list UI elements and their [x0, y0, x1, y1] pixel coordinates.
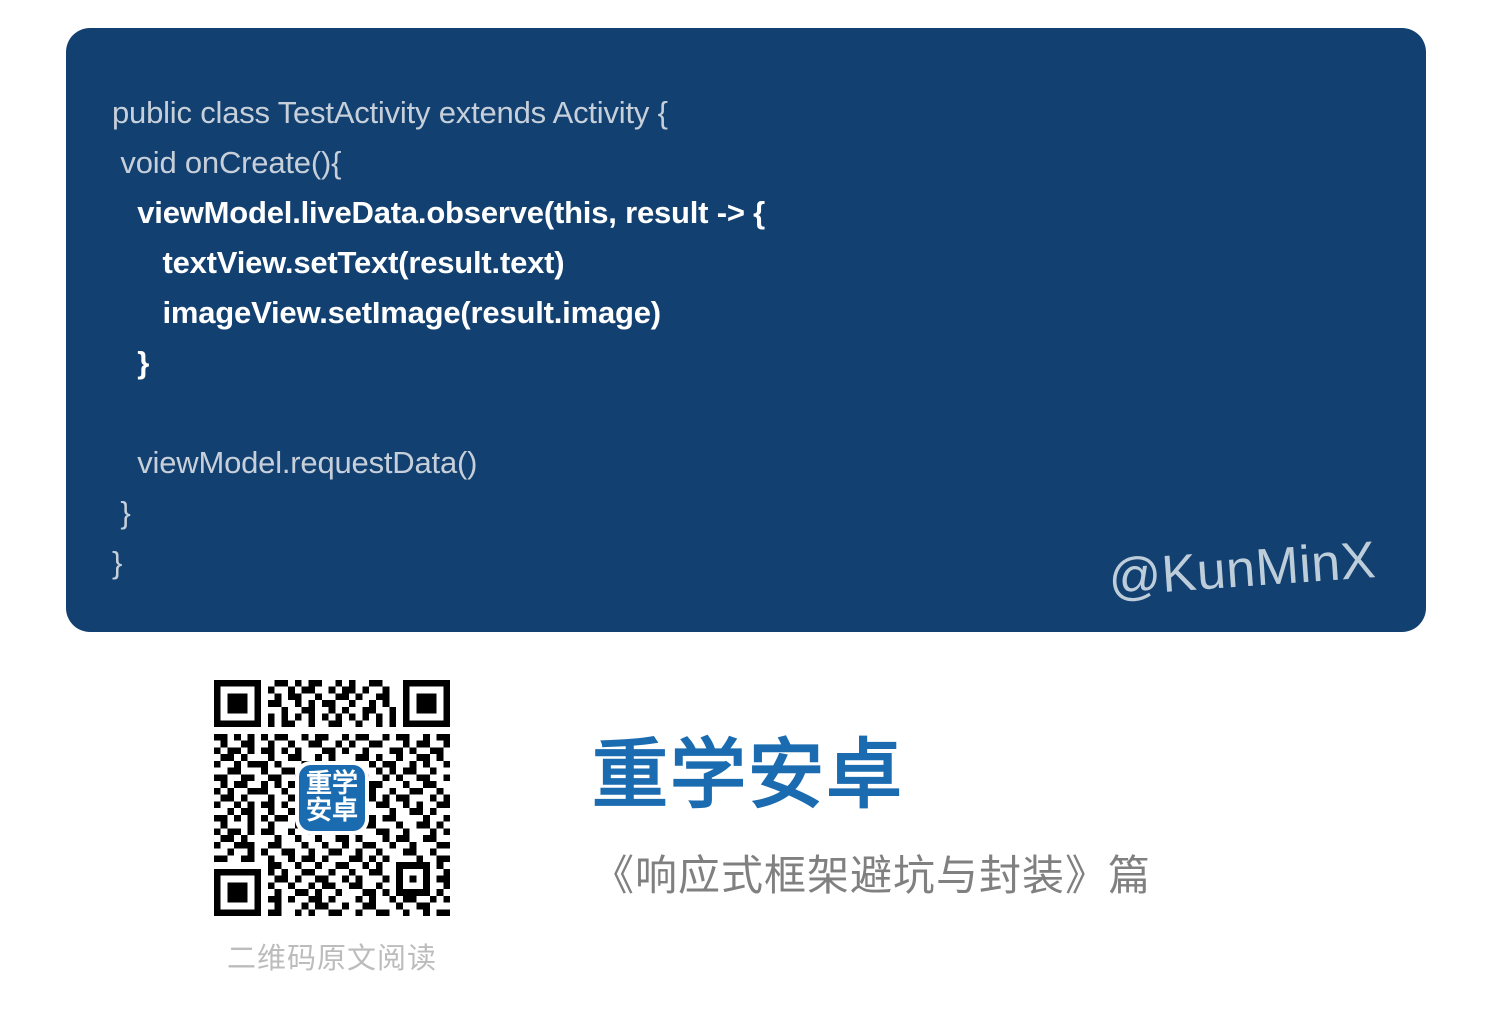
qr-code-block[interactable]: 重学 安卓 二维码原文阅读 [207, 673, 457, 977]
code-line: imageView.setImage(result.image) [112, 288, 1406, 338]
code-line: viewModel.requestData() [112, 438, 1406, 488]
code-line: } [112, 488, 1406, 538]
code-line: textView.setText(result.text) [112, 238, 1406, 288]
code-line: } [112, 338, 1406, 388]
code-line: void onCreate(){ [112, 138, 1406, 188]
code-line-blank [112, 388, 1406, 438]
qr-center-logo: 重学 安卓 [295, 761, 369, 835]
qr-caption: 二维码原文阅读 [207, 935, 457, 977]
code-line: viewModel.liveData.observe(this, result … [112, 188, 1406, 238]
code-snippet-card: public class TestActivity extends Activi… [66, 28, 1426, 632]
code-line: public class TestActivity extends Activi… [112, 88, 1406, 138]
qr-logo-line-1: 重学 [306, 771, 358, 798]
brand-subtitle: 《响应式框架避坑与封装》篇 [592, 848, 1392, 904]
qr-logo-line-2: 安卓 [306, 798, 358, 825]
footer-section: 重学 安卓 二维码原文阅读 重学安卓 《响应式框架避坑与封装》篇 [0, 652, 1488, 1010]
code-block: public class TestActivity extends Activi… [112, 88, 1406, 588]
qr-code-image[interactable]: 重学 安卓 [207, 673, 457, 923]
brand-text-block: 重学安卓 《响应式框架避坑与封装》篇 [592, 732, 1392, 904]
brand-title: 重学安卓 [592, 732, 1392, 818]
